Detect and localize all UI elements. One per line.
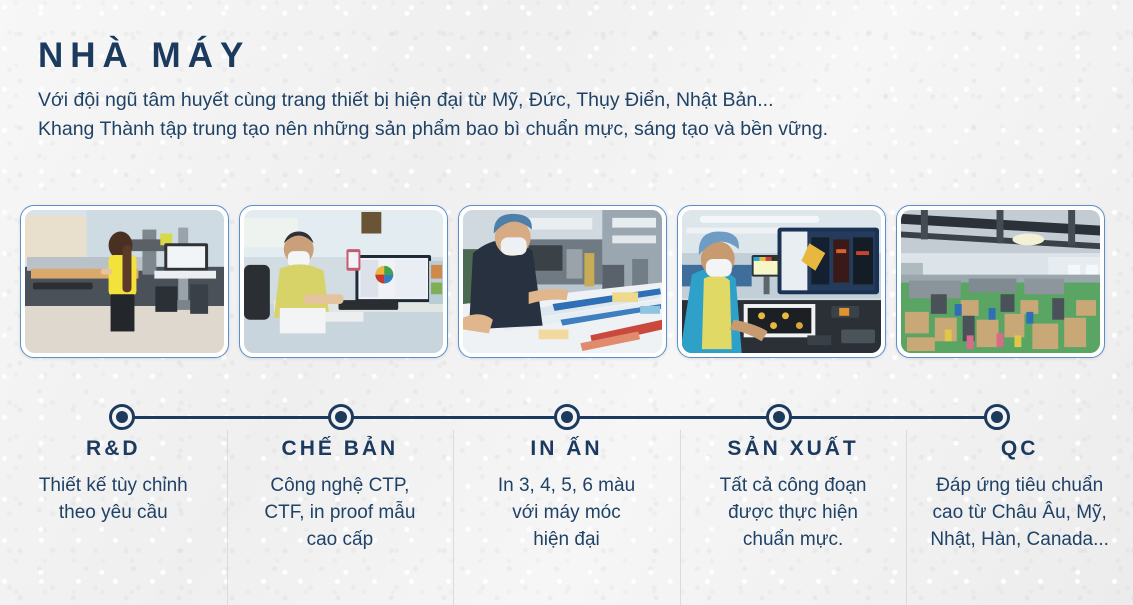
- page-title: NHÀ MÁY: [38, 38, 828, 73]
- subtitle-line-2: Khang Thành tập trung tạo nên những sản …: [38, 115, 828, 144]
- step-column-printing: IN ẤN In 3, 4, 5, 6 màu với máy móc hiện…: [453, 430, 680, 605]
- timeline-dot-printing[interactable]: [554, 404, 580, 430]
- step-desc-printing: In 3, 4, 5, 6 màu với máy móc hiện đại: [467, 473, 666, 554]
- step-desc-line: cao cấp: [241, 527, 440, 554]
- step-desc-production: Tất cả công đoạn được thực hiện chuẩn mự…: [694, 473, 893, 554]
- step-column-production: SẢN XUẤT Tất cả công đoạn được thực hiện…: [680, 430, 907, 605]
- step-title-printing: IN ẤN: [467, 438, 666, 459]
- subtitle-line-1: Với đội ngũ tâm huyết cùng trang thiết b…: [38, 86, 828, 115]
- step-desc-line: Công nghệ CTP,: [241, 473, 440, 500]
- step-desc-qc: Đáp ứng tiêu chuẩn cao từ Châu Âu, Mỹ, N…: [920, 473, 1119, 554]
- photo-card-qc[interactable]: [896, 205, 1105, 358]
- photo-card-production[interactable]: [677, 205, 886, 358]
- step-column-qc: QC Đáp ứng tiêu chuẩn cao từ Châu Âu, Mỹ…: [906, 430, 1133, 605]
- step-desc-line: In 3, 4, 5, 6 màu: [467, 473, 666, 500]
- step-title-prepress: CHẾ BẢN: [241, 438, 440, 459]
- photo-card-prepress[interactable]: [239, 205, 448, 358]
- timeline-dot-rd[interactable]: [109, 404, 135, 430]
- step-title-rd: R&D: [14, 438, 213, 459]
- step-desc-line: chuẩn mực.: [694, 527, 893, 554]
- step-title-production: SẢN XUẤT: [694, 438, 893, 459]
- timeline-dot-prepress[interactable]: [328, 404, 354, 430]
- timeline-dot-core: [561, 411, 573, 423]
- photo-image-qc: [901, 210, 1100, 353]
- step-desc-line: với máy móc: [467, 500, 666, 527]
- photo-image-production: [682, 210, 881, 353]
- step-desc-rd: Thiết kế tùy chỉnh theo yêu cầu: [14, 473, 213, 527]
- page-subtitle: Với đội ngũ tâm huyết cùng trang thiết b…: [38, 86, 828, 145]
- timeline-dot-core: [335, 411, 347, 423]
- photo-card-rd[interactable]: [20, 205, 229, 358]
- step-desc-line: Thiết kế tùy chỉnh: [14, 473, 213, 500]
- step-desc-line: Đáp ứng tiêu chuẩn: [920, 473, 1119, 500]
- photo-strip: [20, 205, 1105, 358]
- timeline-dot-core: [991, 411, 1003, 423]
- photo-card-printing[interactable]: [458, 205, 667, 358]
- step-title-qc: QC: [920, 438, 1119, 459]
- timeline-dot-qc[interactable]: [984, 404, 1010, 430]
- photo-image-printing: [463, 210, 662, 353]
- photo-image-prepress: [244, 210, 443, 353]
- step-desc-line: hiện đại: [467, 527, 666, 554]
- timeline-dot-production[interactable]: [766, 404, 792, 430]
- step-desc-line: theo yêu cầu: [14, 500, 213, 527]
- step-desc-line: Nhật, Hàn, Canada...: [920, 527, 1119, 554]
- process-steps: R&D Thiết kế tùy chỉnh theo yêu cầu CHẾ …: [0, 430, 1133, 605]
- step-desc-line: cao từ Châu Âu, Mỹ,: [920, 500, 1119, 527]
- step-desc-line: Tất cả công đoạn: [694, 473, 893, 500]
- header: NHÀ MÁY Với đội ngũ tâm huyết cùng trang…: [38, 38, 828, 145]
- step-column-rd: R&D Thiết kế tùy chỉnh theo yêu cầu: [0, 430, 227, 605]
- timeline-dot-core: [773, 411, 785, 423]
- photo-image-rd: [25, 210, 224, 353]
- factory-section: NHÀ MÁY Với đội ngũ tâm huyết cùng trang…: [0, 0, 1133, 605]
- timeline-dot-core: [116, 411, 128, 423]
- step-column-prepress: CHẾ BẢN Công nghệ CTP, CTF, in proof mẫu…: [227, 430, 454, 605]
- step-desc-line: CTF, in proof mẫu: [241, 500, 440, 527]
- step-desc-prepress: Công nghệ CTP, CTF, in proof mẫu cao cấp: [241, 473, 440, 554]
- process-timeline: [0, 400, 1133, 434]
- step-desc-line: được thực hiện: [694, 500, 893, 527]
